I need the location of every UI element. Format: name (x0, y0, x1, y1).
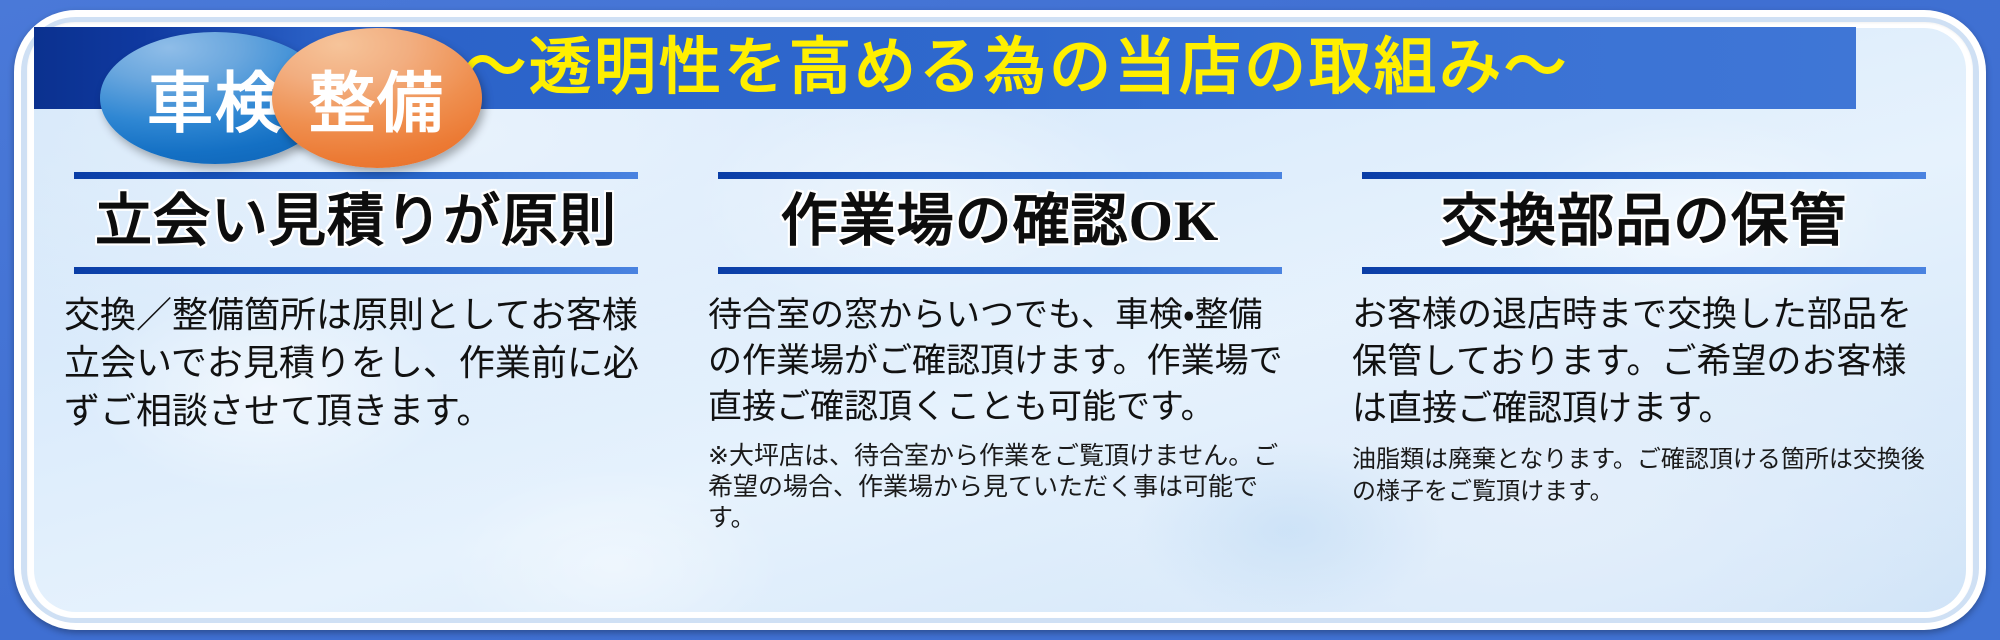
badge-seibi: 整備 (272, 28, 482, 168)
badge-shaken-label: 車検 (147, 50, 283, 146)
column-heading: 作業場の確認OK (704, 179, 1296, 265)
poster: 〜透明性を高める為の当店の取組み〜 車検 整備 立会い見積りが原則 交換／整備箇… (0, 0, 2000, 640)
heading-rule-bottom (74, 267, 638, 274)
heading-rule-bottom (1362, 267, 1926, 274)
banner-title: 〜透明性を高める為の当店の取組み〜 (464, 37, 1569, 99)
column-tachiai: 立会い見積りが原則 交換／整備箇所は原則としてお客様立会いでお見積りをし、作業前… (34, 168, 678, 612)
heading-rule-top (74, 172, 638, 179)
column-note-text: ※大坪店は、待合室から作業をご覧頂けません。ご希望の場合、作業場から見ていただく… (704, 440, 1296, 533)
heading-rule-top (718, 172, 1282, 179)
column-note-text: 油脂類は廃棄となります。ご確認頂ける箇所は交換後の様子をご覧頂けます。 (1348, 443, 1940, 507)
columns-container: 立会い見積りが原則 交換／整備箇所は原則としてお客様立会いでお見積りをし、作業前… (34, 168, 1966, 612)
column-body-text: 待合室の窓からいつでも、車検・整備の作業場がご確認頂けます。作業場で直接ご確認頂… (704, 292, 1296, 430)
column-body-text: 交換／整備箇所は原則としてお客様立会いでお見積りをし、作業前に必ずご相談させて頂… (60, 292, 652, 436)
heading-rule-bottom (718, 267, 1282, 274)
column-heading: 立会い見積りが原則 (60, 179, 652, 265)
badge-seibi-label: 整備 (309, 50, 445, 146)
column-sagyouba: 作業場の確認OK 待合室の窓からいつでも、車検・整備の作業場がご確認頂けます。作… (678, 168, 1322, 612)
column-hokan: 交換部品の保管 お客様の退店時まで交換した部品を保管しております。ご希望のお客様… (1322, 168, 1966, 612)
column-body-text: お客様の退店時まで交換した部品を保管しております。ご希望のお客様は直接ご確認頂け… (1348, 292, 1940, 433)
column-heading: 交換部品の保管 (1348, 179, 1940, 265)
heading-rule-top (1362, 172, 1926, 179)
